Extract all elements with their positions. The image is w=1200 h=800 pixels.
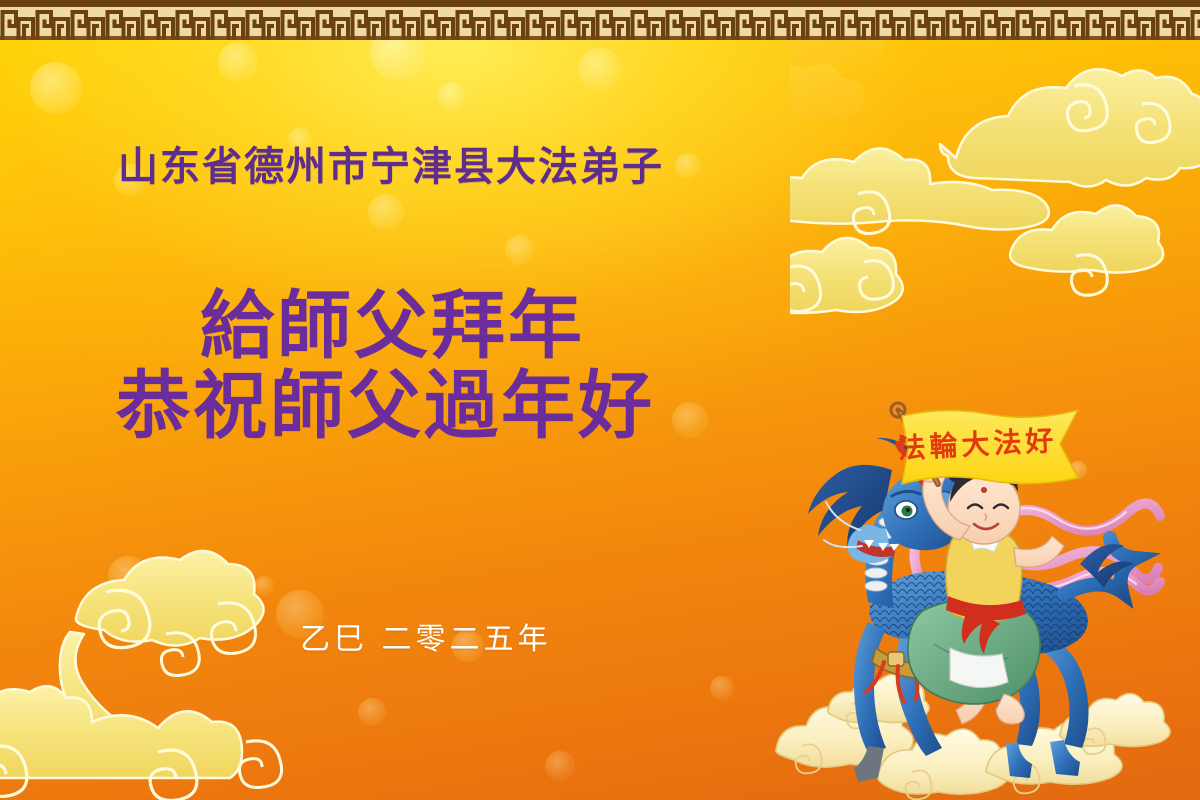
lunar-date-label: 乙巳 二零二五年 xyxy=(300,614,552,658)
bokeh-dot xyxy=(438,82,466,110)
bokeh-dot xyxy=(545,751,575,781)
page-title: 山东省德州市宁津县大法弟子 xyxy=(118,134,664,192)
greeting-line-2: 恭祝師父過年好 xyxy=(116,346,655,453)
new-year-greeting-card: 山东省德州市宁津县大法弟子 給師父拜年 恭祝師父過年好 乙巳 二零二五年 xyxy=(0,0,1200,800)
chinese-key-fret-border xyxy=(0,0,1200,40)
border-shadow xyxy=(0,35,1200,40)
cloud-decoration-top-right xyxy=(790,30,1200,380)
bokeh-dot xyxy=(505,235,535,265)
bokeh-dot xyxy=(108,556,148,596)
bokeh-dot xyxy=(578,48,622,92)
bokeh-dot xyxy=(672,402,708,438)
bokeh-dot xyxy=(368,194,404,230)
banner-flag: 法輪大法好 xyxy=(897,410,1078,484)
bokeh-dot xyxy=(675,153,701,179)
bokeh-dot xyxy=(358,698,386,726)
boy-riding-qilin-dragon-illustration: 法輪大法好 xyxy=(772,398,1162,798)
bokeh-dot xyxy=(30,62,82,114)
bokeh-dot xyxy=(254,576,274,596)
bokeh-dot xyxy=(710,676,734,700)
bokeh-dot xyxy=(218,42,258,82)
cloud-decoration-bottom-left xyxy=(0,540,310,800)
